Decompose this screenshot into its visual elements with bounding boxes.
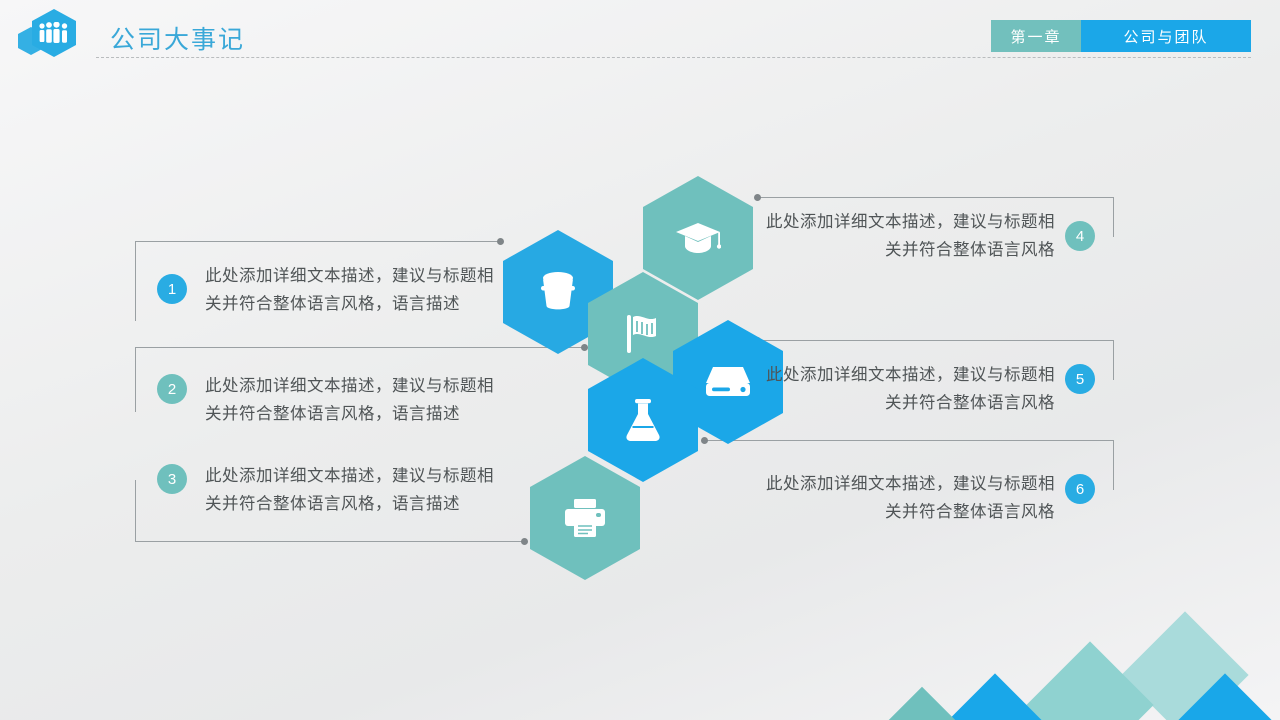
connector-line-4-stem: [1113, 197, 1114, 237]
item-text-5: 此处添加详细文本描述，建议与标题相关并符合整体语言风格: [755, 361, 1055, 417]
bullet-number-1: 1: [157, 274, 187, 304]
header-divider: [96, 57, 1251, 58]
connector-line-6-stem: [1113, 440, 1114, 490]
item-text-6: 此处添加详细文本描述，建议与标题相关并符合整体语言风格: [755, 470, 1055, 526]
connector-dot-3: [521, 538, 528, 545]
connector-dot-4: [754, 194, 761, 201]
people-hexagon-logo-icon: [18, 7, 90, 59]
connector-line-3-stem: [135, 480, 136, 541]
connector-line-2: [135, 347, 585, 348]
printer-icon[interactable]: [530, 456, 640, 580]
chapter-tag: 第一章: [991, 20, 1081, 52]
item-text-2: 此处添加详细文本描述，建议与标题相关并符合整体语言风格，语言描述: [205, 372, 495, 428]
slide-canvas: 公司大事记 第一章 公司与团队: [0, 0, 1280, 720]
bullet-number-3: 3: [157, 464, 187, 494]
item-text-3: 此处添加详细文本描述，建议与标题相关并符合整体语言风格，语言描述: [205, 462, 495, 518]
connector-line-5: [757, 340, 1114, 341]
connector-line-6: [704, 440, 1114, 441]
item-text-1: 此处添加详细文本描述，建议与标题相关并符合整体语言风格，语言描述: [205, 262, 495, 318]
logo-people-glyph: [32, 9, 76, 57]
bullet-number-6: 6: [1065, 474, 1095, 504]
page-title: 公司大事记: [110, 20, 245, 56]
connector-dot-2: [581, 344, 588, 351]
connector-line-3: [135, 541, 525, 542]
connector-line-5-stem: [1113, 340, 1114, 380]
bullet-number-5: 5: [1065, 364, 1095, 394]
connector-line-1-stem: [135, 241, 136, 321]
connector-line-2-stem: [135, 347, 136, 412]
connector-dot-1: [497, 238, 504, 245]
bullet-number-2: 2: [157, 374, 187, 404]
connector-dot-6: [701, 437, 708, 444]
connector-line-1: [135, 241, 500, 242]
item-text-4: 此处添加详细文本描述，建议与标题相关并符合整体语言风格: [755, 208, 1055, 264]
bullet-number-4: 4: [1065, 221, 1095, 251]
connector-line-4: [757, 197, 1114, 198]
chapter-name: 公司与团队: [1081, 20, 1251, 52]
